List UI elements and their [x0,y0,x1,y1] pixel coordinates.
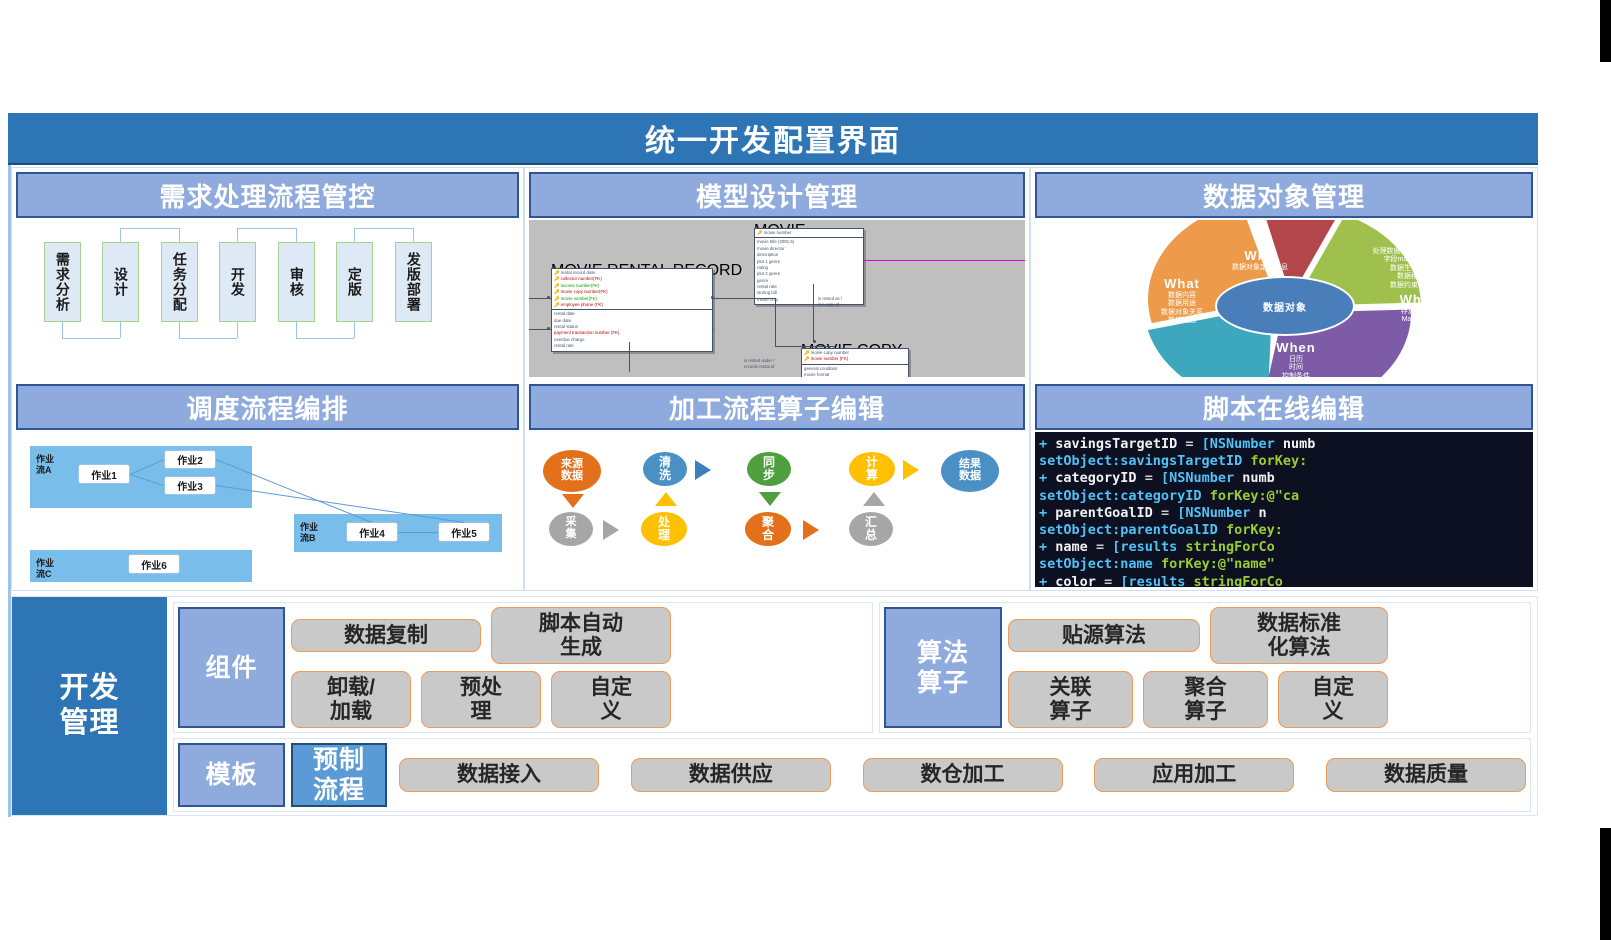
dev-group-components: 组件 数据复制脚本自动生成 卸载/加载预处理自定义 [173,602,873,733]
er-attr-field: rental rate [554,343,710,349]
code-line-1: + savingsTargetID = [NSNumber numb [1039,436,1533,453]
chips-prefab-process: 数据接入数据供应数仓加工应用加工数据质量 [393,743,1526,807]
category-tile-algorithm-operators[interactable]: 算法算子 [884,607,1002,728]
pie-label-word: Who [1185,248,1335,264]
er-relationship-line [775,346,835,347]
chip-prefab-2[interactable]: 数据供应 [631,758,831,792]
chip-algorithm-2[interactable]: 聚合算子 [1143,671,1268,728]
pie-label-sub: 处理数据逻辑关系及算法字段mapping信息数据生命周期数据格式数据约束条件 [1321,248,1501,291]
code-line-2: setObject:savingsTargetID forKey: [1039,453,1533,470]
er-relationship-line-highlight [864,260,1025,261]
operator-node-1[interactable]: 来源数据 [543,450,601,492]
job-node-作业6[interactable]: 作业6 [128,554,180,574]
er-connector-dot [547,327,550,330]
er-relationship-line [713,329,714,330]
chip-prefab-5[interactable]: 数据质量 [1326,758,1526,792]
operator-node-6[interactable]: 聚合 [745,512,791,546]
panel-title-model-design: 模型设计管理 [529,172,1025,218]
module-grid: 需求处理流程管控 需求分析设计任务分配开发审核定版发版部署 模型设计管理 MOV… [11,167,1538,591]
flow-connector-leg [296,322,297,338]
panel-title-data-object: 数据对象管理 [1035,172,1533,218]
category-tile-template[interactable]: 模板 [178,743,285,807]
dev-group-algorithm-operators: 算法算子 贴源算法数据标准化算法 关联算子聚合算子自定义 [879,602,1531,733]
er-diagram[interactable]: MOVIE RENTAL RECORD🔑 rental record date🔑… [529,220,1025,377]
development-management-section: 开发管理 组件 数据复制脚本自动生成 卸载/加载预处理自定义 算法算子 贴源算法… [11,596,1538,816]
panel-schedule-flow[interactable]: 调度流程编排 作业流A作业1作业2作业3作业流B作业4作业5作业流C作业6 [12,380,523,590]
code-line-6: setObject:parentGoalID forKey: [1039,522,1533,539]
panel-body-model-design: MOVIE RENTAL RECORD🔑 rental record date🔑… [529,220,1025,377]
operator-arrow-5 [759,492,781,506]
chip-row-algorithm-1: 贴源算法数据标准化算法 [1008,607,1526,664]
swimlane-label: 作业流A [36,454,54,476]
right-edge-bar-top [1600,0,1611,62]
flow-connector-leg [237,322,238,338]
flow-connector [62,338,120,339]
er-divider [552,309,712,310]
category-tile-components[interactable]: 组件 [178,607,285,728]
er-relationship-line [813,284,814,342]
panel-title-operator-editing: 加工流程算子编辑 [529,384,1025,430]
er-entity-movie-copy[interactable]: 🔑 movie copy number🔑 movie number (FK)ge… [801,348,909,377]
requirement-step-1[interactable]: 需求分析 [44,242,81,322]
panel-requirement-flow[interactable]: 需求处理流程管控 需求分析设计任务分配开发审核定版发版部署 [12,168,523,380]
panel-script-editor[interactable]: 脚本在线编辑 + savingsTargetID = [NSNumber num… [1031,380,1537,590]
flow-connector-leg [179,322,180,338]
chip-prefab-3[interactable]: 数仓加工 [863,758,1063,792]
requirement-step-2[interactable]: 设计 [102,242,139,322]
operator-node-9[interactable]: 结果数据 [941,450,999,492]
er-key-field: 🔑 movie number (FK) [804,356,906,362]
dev-management-title: 开发管理 [12,597,167,815]
pie-label-when: When日历时间控制条件 [1231,340,1361,377]
job-node-作业4[interactable]: 作业4 [346,522,398,542]
job-node-作业5[interactable]: 作业5 [438,522,490,542]
code-line-4: setObject:categoryID forKey:@"ca [1039,488,1533,505]
chips-components: 数据复制脚本自动生成 卸载/加载预处理自定义 [291,607,868,728]
requirement-step-5[interactable]: 审核 [278,242,315,322]
pie-label-word: Where [1347,292,1497,308]
panel-body-script-editor: + savingsTargetID = [NSNumber numbsetObj… [1035,432,1533,587]
operator-node-4[interactable]: 处理 [641,512,687,546]
er-connector-dot [711,296,714,299]
operator-node-5[interactable]: 同步 [747,452,791,486]
er-relationship-line [775,298,776,346]
panel-model-design[interactable]: 模型设计管理 MOVIE RENTAL RECORD🔑 rental recor… [525,168,1029,380]
swimlane-label: 作业流C [36,558,54,580]
requirement-step-7[interactable]: 发版部署 [395,242,432,322]
operator-arrow-6 [803,520,819,540]
flow-connector [179,338,237,339]
pie-center-label[interactable]: 数据对象 [1215,276,1355,336]
operator-arrow-7 [863,492,885,506]
dev-row-templates: 模板 预制流程 数据接入数据供应数仓加工应用加工数据质量 [173,738,1531,812]
chip-row-algorithm-2: 关联算子聚合算子自定义 [1008,671,1526,728]
er-relationship-line [713,298,775,299]
er-relationship-label: is rented as /is a copy of [818,296,842,308]
pie-label-sub: 日历时间控制条件 [1231,356,1361,377]
chip-row-prefab: 数据接入数据供应数仓加工应用加工数据质量 [399,758,1526,792]
chip-algorithm-1[interactable]: 关联算子 [1008,671,1133,728]
panel-title-script-editor: 脚本在线编辑 [1035,384,1533,430]
flow-connector [120,228,179,229]
pie-label-word: How [1321,232,1501,248]
chip-prefab-4[interactable]: 应用加工 [1094,758,1294,792]
er-connector-dot [813,340,816,343]
panel-operator-editing[interactable]: 加工流程算子编辑 来源数据采集清洗处理同步聚合计算汇总结果数据 [525,380,1029,590]
operator-arrow-4 [695,460,711,480]
er-relationship-label: is rented under /records rental of [744,358,774,370]
code-line-7: + name = [results stringForCo [1039,539,1533,556]
operator-arrow-1 [562,494,584,508]
operator-node-8[interactable]: 汇总 [849,512,893,546]
five-w-pie-chart[interactable]: Who数据对象定义信息What数据内容数据用途数据对象关系数值流图When日历时… [1035,220,1533,377]
flow-connector-leg [413,228,414,242]
pie-label-sub: 数据对象定义信息 [1185,264,1335,273]
panel-body-operator-editing: 来源数据采集清洗处理同步聚合计算汇总结果数据 [529,432,1025,587]
dev-row-components: 组件 数据复制脚本自动生成 卸载/加载预处理自定义 算法算子 贴源算法数据标准化… [173,602,1531,733]
chip-component-2[interactable]: 脚本自动生成 [491,607,671,664]
er-attr-field: movie format [804,372,906,377]
er-divider [755,237,863,238]
flow-connector-leg [62,322,63,338]
flow-connector [237,228,296,229]
er-key-field: 🔑 movie number [757,230,861,236]
code-line-9: + color = [results stringForCo [1039,574,1533,587]
job-node-作业2[interactable]: 作业2 [164,450,216,469]
job-node-作业3[interactable]: 作业3 [164,476,216,495]
chip-component-3[interactable]: 自定义 [551,671,671,728]
er-divider [802,364,908,365]
chip-algorithm-2[interactable]: 数据标准化算法 [1210,607,1388,664]
dev-management-body: 组件 数据复制脚本自动生成 卸载/加载预处理自定义 算法算子 贴源算法数据标准化… [167,597,1537,815]
panel-title-requirement-flow: 需求处理流程管控 [16,172,519,218]
flow-connector-leg [296,228,297,242]
right-edge-bar-bottom [1600,828,1611,940]
chip-component-1[interactable]: 数据复制 [291,619,481,653]
chip-algorithm-1[interactable]: 贴源算法 [1008,619,1200,653]
chips-algorithm-operators: 贴源算法数据标准化算法 关联算子聚合算子自定义 [1008,607,1526,728]
flow-connector [354,228,413,229]
panel-title-schedule-flow: 调度流程编排 [16,384,519,430]
panel-body-requirement-flow: 需求分析设计任务分配开发审核定版发版部署 [16,220,519,377]
er-relationship-line [629,342,630,372]
operator-node-2[interactable]: 采集 [549,512,593,546]
chip-component-1[interactable]: 卸载/加载 [291,671,411,728]
job-link [398,532,438,533]
code-editor-area[interactable]: + savingsTargetID = [NSNumber numbsetObj… [1035,432,1533,587]
category-tile-prefab-process[interactable]: 预制流程 [291,743,387,807]
er-key-field: 🔑 employee phone (FK) [554,302,710,308]
chip-component-2[interactable]: 预处理 [421,671,541,728]
requirement-step-4[interactable]: 开发 [219,242,256,322]
job-node-作业1[interactable]: 作业1 [78,464,130,484]
pie-label-sub: 存放物理位置Mapping关系 [1347,308,1497,325]
operator-node-3[interactable]: 清洗 [643,452,687,486]
operator-arrow-3 [655,492,677,506]
operator-arrow-8 [903,460,919,480]
panel-data-object[interactable]: 数据对象管理 Who数据对象定义信息What数据内容数据用途数据对象关系数值流图… [1031,168,1537,380]
master-title: 统一开发配置界面 [8,113,1538,165]
chip-row-components-1: 数据复制脚本自动生成 [291,607,868,664]
swimlane-label: 作业流B [300,522,318,544]
chip-row-components-2: 卸载/加载预处理自定义 [291,671,868,728]
pie-label-how: How处理数据逻辑关系及算法字段mapping信息数据生命周期数据格式数据约束条… [1321,232,1501,291]
er-entity-movie[interactable]: 🔑 movie numbermovie title (2001.5)movie … [754,228,864,305]
panel-body-data-object: Who数据对象定义信息What数据内容数据用途数据对象关系数值流图When日历时… [1035,220,1533,377]
code-line-5: + parentGoalID = [NSNumber n [1039,505,1533,522]
code-line-3: + categoryID = [NSNumber numb [1039,470,1533,487]
operator-node-7[interactable]: 计算 [849,452,895,486]
er-connector-dot [547,296,550,299]
flow-connector-leg [237,228,238,242]
operator-arrow-2 [603,520,619,540]
flow-connector-leg [120,322,121,338]
er-entity-movie-rental-record[interactable]: 🔑 rental record date🔑 collector number(F… [551,268,713,352]
flow-connector-leg [354,322,355,338]
panel-body-schedule-flow: 作业流A作业1作业2作业3作业流B作业4作业5作业流C作业6 [16,432,519,587]
flow-connector-leg [179,228,180,242]
chip-prefab-1[interactable]: 数据接入 [399,758,599,792]
flow-connector-leg [120,228,121,242]
pie-label-where: Where存放物理位置Mapping关系 [1347,292,1497,325]
code-line-8: setObject:name forKey:@"name" [1039,556,1533,573]
pie-label-who: Who数据对象定义信息 [1185,248,1335,272]
chip-algorithm-3[interactable]: 自定义 [1278,671,1388,728]
flow-connector-leg [354,228,355,242]
pie-label-word: When [1231,340,1361,356]
requirement-step-3[interactable]: 任务分配 [161,242,198,322]
requirement-step-6[interactable]: 定版 [336,242,373,322]
flow-connector [296,338,354,339]
